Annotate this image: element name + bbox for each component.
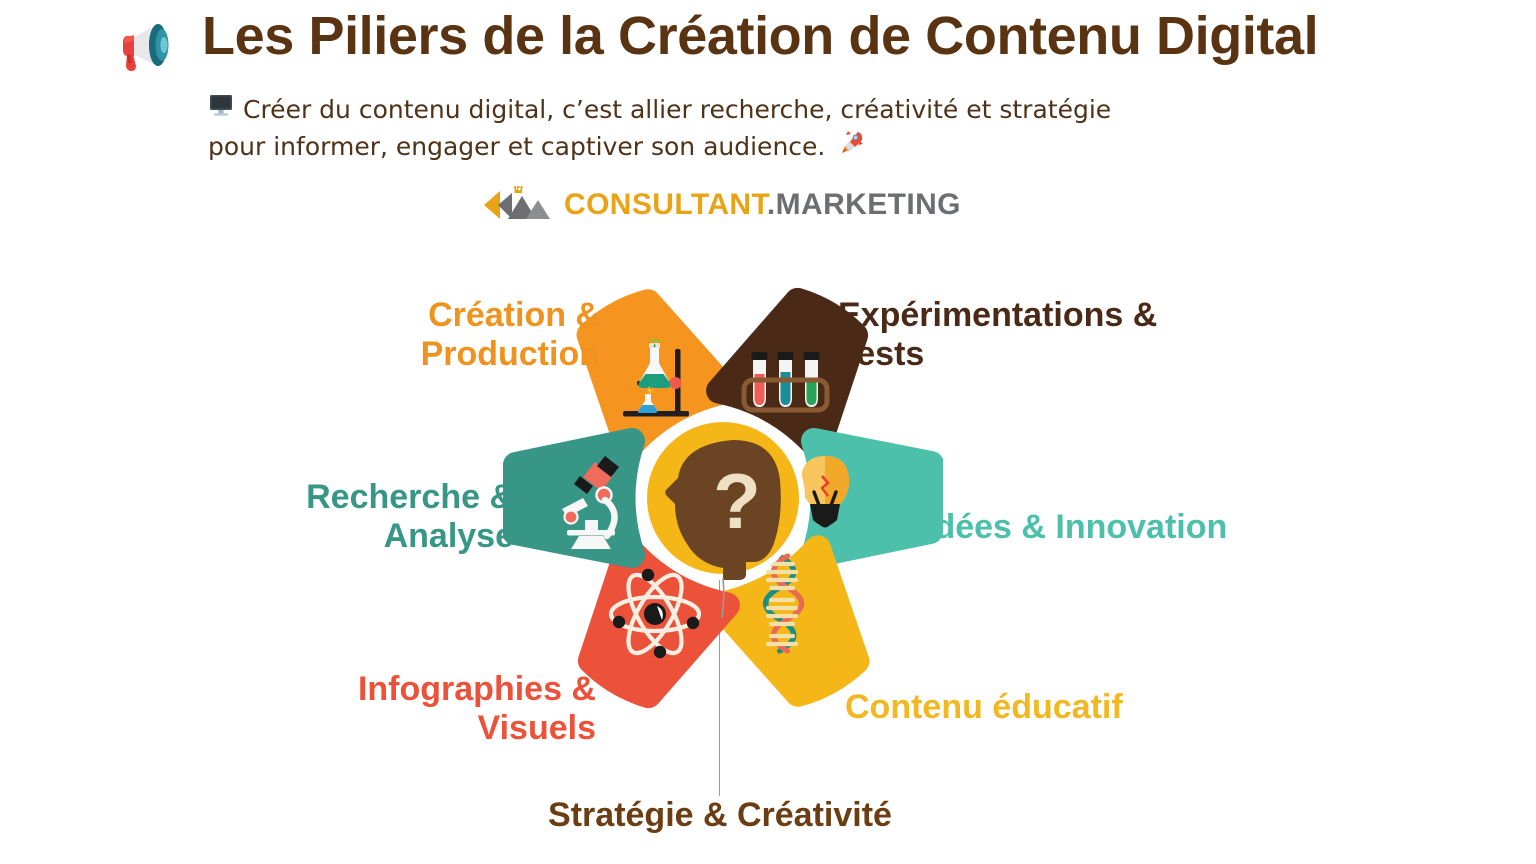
label-experim-line2: Tests	[838, 335, 1258, 374]
logo-separator: .	[767, 188, 776, 221]
test-tubes-rack-icon	[744, 352, 827, 410]
logo-word-consultant: CONSULTANT	[564, 188, 767, 221]
label-contenu-line1: Contenu éducatif	[845, 688, 1275, 727]
subtitle-line-1: Créer du contenu digital, c’est allier r…	[208, 92, 1168, 128]
label-creation-line1: Création &	[300, 296, 600, 335]
label-strategie-creativite[interactable]: Stratégie & Créativité	[400, 796, 1040, 835]
wheel-segment-recherche-analyse[interactable]	[511, 441, 632, 555]
subtitle-block: Créer du contenu digital, c’est allier r…	[208, 92, 1168, 165]
label-experimentations-tests[interactable]: Expérimentations & Tests	[838, 296, 1258, 375]
title-row: Les Piliers de la Création de Contenu Di…	[0, 0, 1536, 76]
logo-mark-icon	[478, 186, 556, 224]
label-infog-line2: Visuels	[218, 709, 596, 748]
label-creation-line2: Production	[300, 335, 600, 374]
svg-text:?: ?	[713, 457, 761, 545]
label-recherche-line1: Recherche &	[214, 478, 514, 517]
subtitle-line-2: pour informer, engager et captiver son a…	[208, 128, 1168, 166]
infographic-page: Les Piliers de la Création de Contenu Di…	[0, 0, 1536, 864]
label-contenu-educatif[interactable]: Contenu éducatif	[845, 688, 1275, 727]
consultant-marketing-logo: CONSULTANT.MARKETING	[478, 186, 961, 224]
subtitle-text-2: pour informer, engager et captiver son a…	[208, 129, 825, 165]
label-idees-line1: Idées & Innovation	[925, 508, 1355, 547]
label-recherche-analyse[interactable]: Recherche & Analyse	[214, 478, 514, 557]
rocket-icon	[835, 128, 865, 166]
label-infog-line1: Infographies &	[218, 670, 596, 709]
label-creation-production[interactable]: Création & Production	[300, 296, 600, 375]
logo-wordmark: CONSULTANT.MARKETING	[564, 190, 961, 220]
label-experim-line1: Expérimentations &	[838, 296, 1258, 335]
subtitle-text-1: Créer du contenu digital, c’est allier r…	[243, 92, 1111, 128]
page-title: Les Piliers de la Création de Contenu Di…	[202, 8, 1318, 65]
logo-word-marketing: MARKETING	[776, 188, 961, 221]
label-recherche-line2: Analyse	[214, 517, 514, 556]
label-idees-innovation[interactable]: Idées & Innovation	[925, 508, 1355, 547]
pillars-wheel-section: ? Création & Production Expérimentations…	[0, 258, 1536, 864]
header: Les Piliers de la Création de Contenu Di…	[0, 0, 1536, 76]
label-infographies-visuels[interactable]: Infographies & Visuels	[218, 670, 596, 749]
megaphone-icon	[118, 14, 196, 76]
desktop-computer-icon	[208, 92, 234, 128]
